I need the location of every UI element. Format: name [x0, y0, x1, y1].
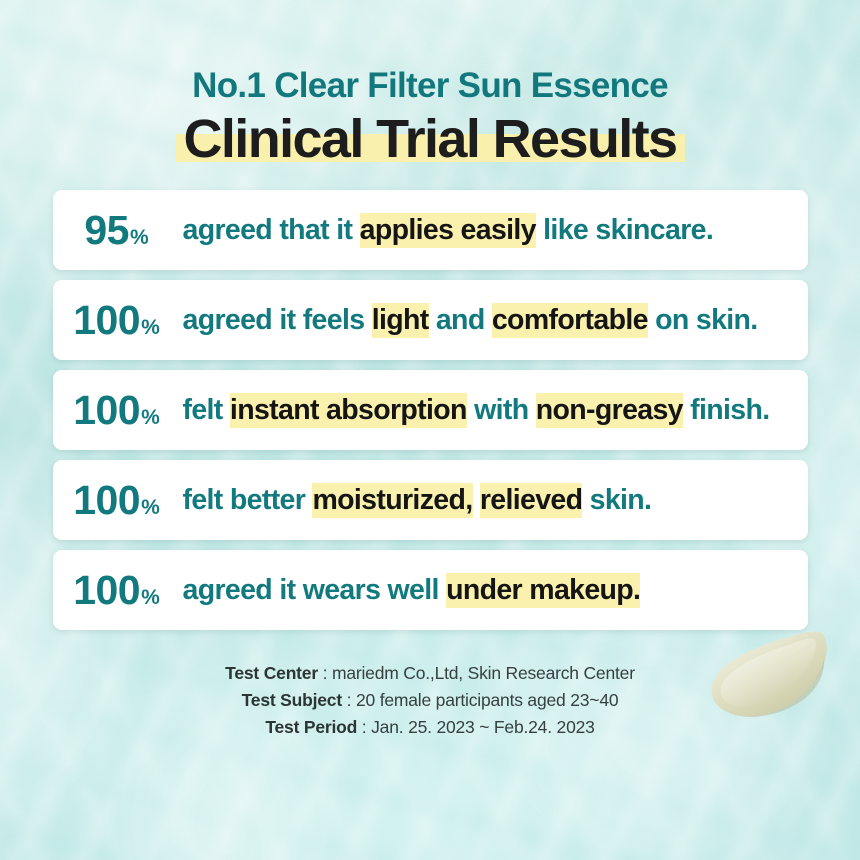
footer-separator: : [357, 717, 371, 737]
result-percentage: 100% [53, 390, 183, 431]
statement-text: agreed it feels [183, 304, 372, 336]
statement-highlight: light [372, 303, 429, 338]
statement-text: felt [183, 394, 230, 426]
percentage-unit: % [141, 406, 160, 429]
result-card: 100%agreed it wears well under makeup. [53, 550, 808, 630]
statement-text: and [429, 304, 492, 336]
percentage-number: 100 [73, 477, 140, 523]
statement-highlight: relieved [480, 483, 583, 518]
footer-line: Test Center : mariedm Co.,Ltd, Skin Rese… [0, 660, 860, 687]
footer-label: Test Center [225, 663, 318, 683]
footer-value: mariedm Co.,Ltd, Skin Research Center [332, 663, 635, 683]
percentage-number: 100 [73, 567, 140, 613]
result-statement: agreed that it applies easily like skinc… [183, 214, 808, 248]
product-subtitle: No.1 Clear Filter Sun Essence [0, 66, 860, 105]
result-percentage: 100% [53, 300, 183, 341]
poster-header: No.1 Clear Filter Sun Essence Clinical T… [0, 0, 860, 168]
statement-text: agreed that it [183, 214, 360, 246]
result-statement: agreed it feels light and comfortable on… [183, 304, 808, 338]
footer-value: 20 female participants aged 23~40 [356, 690, 618, 710]
statement-highlight: comfortable [492, 303, 648, 338]
result-card: 100%agreed it feels light and comfortabl… [53, 280, 808, 360]
statement-text [473, 484, 480, 516]
result-percentage: 100% [53, 570, 183, 611]
statement-highlight: instant absorption [230, 393, 467, 428]
percentage-number: 100 [73, 297, 140, 343]
percentage-number: 100 [73, 387, 140, 433]
footer-label: Test Period [265, 717, 357, 737]
footer-label: Test Subject [242, 690, 342, 710]
percentage-unit: % [141, 496, 160, 519]
result-percentage: 95% [53, 210, 183, 251]
statement-highlight: moisturized, [312, 483, 472, 518]
percentage-unit: % [141, 316, 160, 339]
statement-text: skin. [582, 484, 651, 516]
page-title-wrapper: Clinical Trial Results [184, 111, 677, 168]
statement-text: like skincare. [536, 214, 713, 246]
statement-text: with [467, 394, 536, 426]
statement-text: agreed it wears well [183, 574, 447, 606]
statement-text: finish. [683, 394, 770, 426]
percentage-unit: % [141, 586, 160, 609]
statement-text: felt better [183, 484, 313, 516]
result-statement: felt instant absorption with non-greasy … [183, 394, 808, 428]
footer-separator: : [342, 690, 356, 710]
percentage-unit: % [130, 226, 149, 249]
statement-highlight: applies easily [360, 213, 536, 248]
result-card: 100%felt better moisturized, relieved sk… [53, 460, 808, 540]
results-list: 95%agreed that it applies easily like sk… [53, 190, 808, 630]
statement-text: on skin. [648, 304, 758, 336]
footer-value: Jan. 25. 2023 ~ Feb.24. 2023 [371, 717, 595, 737]
infographic-poster: No.1 Clear Filter Sun Essence Clinical T… [0, 0, 860, 860]
footer-line: Test Subject : 20 female participants ag… [0, 687, 860, 714]
statement-highlight: under makeup. [446, 573, 640, 608]
statement-highlight: non-greasy [536, 393, 683, 428]
study-details-footer: Test Center : mariedm Co.,Ltd, Skin Rese… [0, 660, 860, 740]
result-percentage: 100% [53, 480, 183, 521]
footer-separator: : [318, 663, 332, 683]
footer-line: Test Period : Jan. 25. 2023 ~ Feb.24. 20… [0, 714, 860, 741]
result-statement: felt better moisturized, relieved skin. [183, 484, 808, 518]
percentage-number: 95 [84, 207, 129, 253]
result-card: 100%felt instant absorption with non-gre… [53, 370, 808, 450]
result-statement: agreed it wears well under makeup. [183, 574, 808, 608]
page-title: Clinical Trial Results [184, 111, 677, 168]
result-card: 95%agreed that it applies easily like sk… [53, 190, 808, 270]
